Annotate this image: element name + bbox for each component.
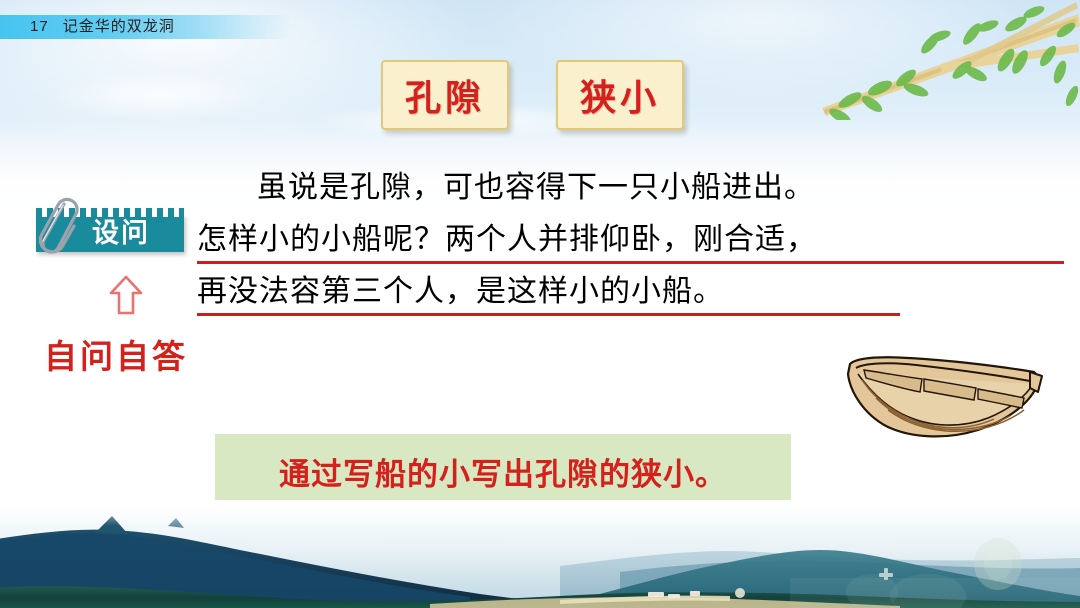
leafy-branch-icon: [820, 0, 1080, 120]
conclusion-box[interactable]: 通过写船的小写出孔隙的狭小。: [215, 434, 791, 508]
keyword-box-xiaxiao[interactable]: 狭小: [556, 60, 684, 130]
keyword-label-2: 狭小: [580, 69, 660, 121]
keyword-label-1: 孔隙: [405, 69, 485, 121]
header-title: 17记金华的双龙洞: [30, 16, 175, 38]
passage-line-3: 再没法容第三个人，是这样小的小船。: [197, 266, 1072, 318]
slide-canvas: 17记金华的双龙洞 孔隙 狭小 虽说是孔隙，可也容得下一只小船进出。 怎样小的小…: [0, 0, 1080, 608]
up-arrow-icon: [108, 274, 144, 316]
passage-text: 虽说是孔隙，可也容得下一只小船进出。 怎样小的小船呢？两个人并排仰卧，刚合适， …: [197, 162, 1072, 318]
paperclip-icon: [30, 196, 82, 258]
mountain-landscape-photo: [0, 500, 1080, 608]
conclusion-text: 通过写船的小写出孔隙的狭小。: [279, 449, 727, 494]
keyword-box-kongxi[interactable]: 孔隙: [381, 60, 509, 130]
passage-line-1: 虽说是孔隙，可也容得下一只小船进出。: [197, 162, 1072, 214]
passage-line-2: 怎样小的小船呢？两个人并排仰卧，刚合适，: [197, 214, 1072, 266]
note-tag-shewen[interactable]: 设问: [36, 208, 184, 252]
lesson-number: 17: [30, 18, 49, 35]
lesson-title: 记金华的双龙洞: [63, 18, 175, 35]
annotation-ziwenzida: 自问自答: [44, 330, 188, 378]
wooden-boat-icon: [838, 348, 1048, 444]
